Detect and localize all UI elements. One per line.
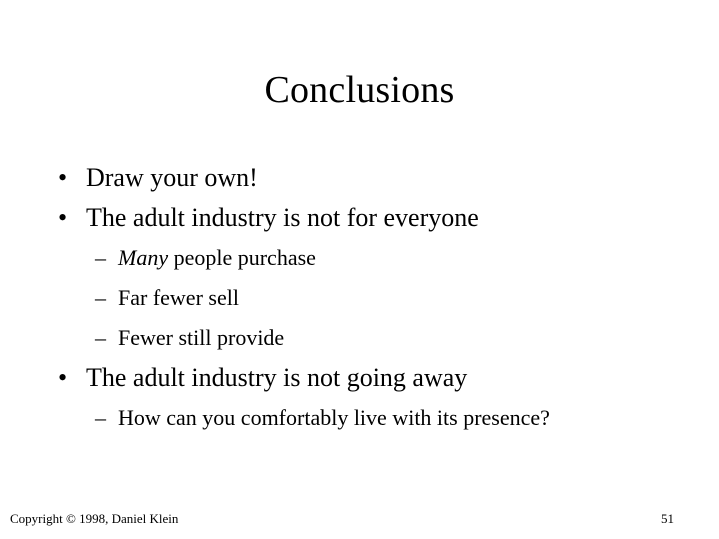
list-item: – Fewer still provide (0, 318, 719, 358)
bullet-dash-icon: – (95, 238, 106, 278)
list-item: • The adult industry is not going away (0, 358, 719, 398)
footer-copyright: Copyright © 1998, Daniel Klein (10, 511, 178, 527)
bullet-dot-icon: • (58, 198, 67, 238)
bullet-list: • Draw your own! • The adult industry is… (0, 158, 719, 438)
bullet-dash-icon: – (95, 278, 106, 318)
list-item-label: The adult industry is not for everyone (86, 203, 479, 232)
list-item-label: Far fewer sell (118, 285, 239, 310)
bullet-dot-icon: • (58, 358, 67, 398)
list-item: – Many people purchase (0, 238, 719, 278)
bullet-dot-icon: • (58, 158, 67, 198)
list-item-label-rest: people purchase (168, 245, 316, 270)
page-title: Conclusions (0, 68, 719, 112)
list-item: – How can you comfortably live with its … (0, 398, 719, 438)
footer-page-number: 51 (661, 511, 674, 527)
list-item-label: Many people purchase (118, 245, 316, 270)
list-item: – Far fewer sell (0, 278, 719, 318)
list-item-label: Fewer still provide (118, 325, 284, 350)
list-item: • Draw your own! (0, 158, 719, 198)
list-item-label: Draw your own! (86, 163, 258, 192)
slide-canvas: Conclusions • Draw your own! • The adult… (0, 0, 719, 539)
bullet-dash-icon: – (95, 398, 106, 438)
emphasized-word: Many (118, 245, 168, 270)
bullet-dash-icon: – (95, 318, 106, 358)
list-item: • The adult industry is not for everyone (0, 198, 719, 238)
list-item-label: How can you comfortably live with its pr… (118, 405, 550, 430)
list-item-label: The adult industry is not going away (86, 363, 467, 392)
